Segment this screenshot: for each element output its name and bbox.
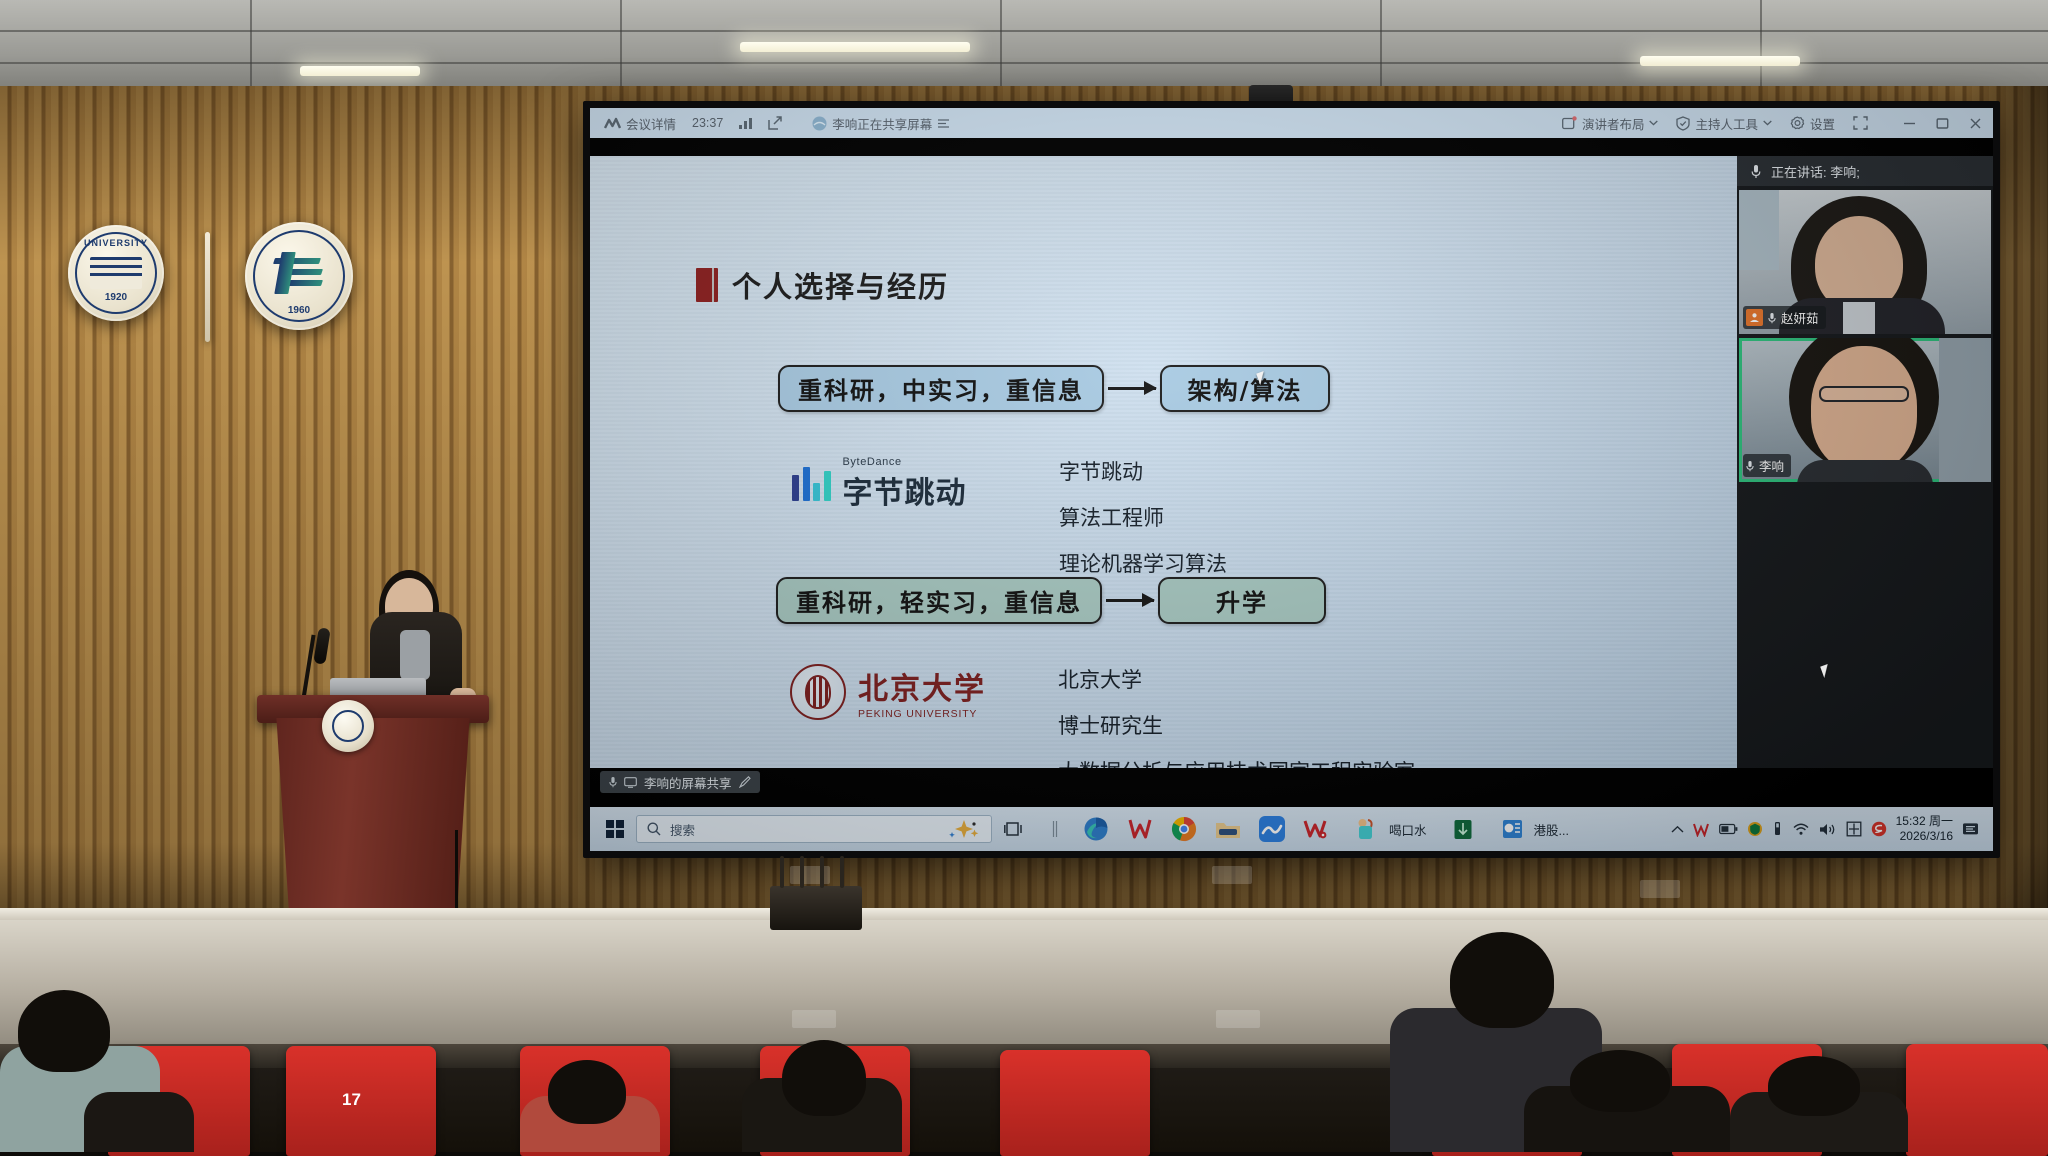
lark-logo-icon (604, 117, 621, 129)
school-line: 博士研究生 (1058, 710, 1415, 740)
company-line: 字节跳动 (1059, 456, 1227, 486)
speaking-indicator: 正在讲话: 李响; (1737, 156, 1993, 186)
audience-member (84, 1092, 194, 1152)
audience-head (18, 990, 110, 1072)
taskbar-clock[interactable]: 15:32 周一 2026/3/16 (1896, 814, 1953, 844)
meeting-stage: 个人选择与经历 重科研，中实习，重信息 架构/算法 (590, 138, 1993, 821)
host-tools-label: 主持人工具 (1695, 114, 1758, 133)
audience-seat: 17 (286, 1046, 436, 1156)
speaking-indicator-text: 正在讲话: 李响; (1771, 162, 1860, 181)
screen-share-icon (624, 777, 637, 788)
volume-icon[interactable] (1819, 822, 1837, 837)
microphone-icon (609, 776, 617, 788)
news-icon[interactable] (1497, 814, 1527, 844)
speaker-layout-label: 演讲者布局 (1582, 114, 1645, 133)
company-text-column: 字节跳动 算法工程师 理论机器学习算法 (1059, 456, 1227, 578)
meeting-toolbar: 会议详情 23:37 李响正在共享屏幕 (590, 108, 1993, 138)
meeting-timer: 23:37 (692, 116, 723, 130)
ceiling-light (740, 42, 970, 52)
sharing-avatar-icon (812, 116, 827, 131)
emblem-yanshan-university: UNIVERSITY 1920 (68, 225, 164, 321)
flow2-left-box: 重科研，轻实习，重信息 (776, 577, 1102, 624)
podium-university-seal (322, 700, 374, 752)
host-badge-icon (1746, 309, 1763, 326)
ceiling-light (300, 66, 420, 76)
sogou-icon[interactable] (1871, 821, 1887, 837)
flow1-right-box: 架构/算法 (1160, 365, 1330, 412)
taskbar-divider (1040, 814, 1070, 844)
layout-icon (1562, 116, 1577, 130)
meeting-details-label: 会议详情 (626, 114, 676, 133)
shield-icon[interactable] (1747, 821, 1763, 837)
sharing-status: 李响正在共享屏幕 (812, 114, 950, 133)
flow2-right-box: 升学 (1158, 577, 1326, 624)
slide-title: 个人选择与经历 (696, 264, 949, 306)
hk-stock-label: 港股... (1534, 820, 1569, 839)
company-line: 理论机器学习算法 (1059, 548, 1227, 578)
shared-slide: 个人选择与经历 重科研，中实习，重信息 架构/算法 (590, 156, 1737, 768)
screen-share-text: 李响的屏幕共享 (644, 773, 732, 792)
bytedance-cn-label: 字节跳动 (843, 468, 967, 512)
search-placeholder: 搜索 (670, 820, 695, 839)
speaker-layout-button[interactable]: 演讲者布局 (1562, 114, 1659, 133)
stage-equipment (770, 886, 862, 930)
ime-icon[interactable] (1846, 821, 1862, 837)
notification-icon[interactable] (1962, 822, 1979, 837)
pencil-annotate-icon[interactable] (739, 776, 751, 788)
seat-number: 17 (342, 1090, 361, 1110)
video-tile-label: 赵妍茹 (1743, 306, 1826, 329)
flow-row-1: 重科研，中实习，重信息 架构/算法 (778, 365, 1330, 412)
bytedance-logo: ByteDance 字节跳动 (792, 456, 967, 512)
audience-seat (1906, 1044, 2048, 1156)
fullscreen-icon[interactable] (1853, 116, 1868, 130)
audience-head (1570, 1050, 1670, 1112)
projection-screen: 会议详情 23:37 李响正在共享屏幕 (583, 101, 2000, 858)
windows-taskbar: 搜索 (590, 807, 1993, 851)
search-icon (647, 822, 661, 836)
chevron-down-icon (1649, 120, 1658, 126)
microphone-icon (1746, 460, 1754, 472)
usb-icon[interactable] (1772, 821, 1783, 837)
wps-office-icon[interactable] (1125, 814, 1155, 844)
ceiling-light (1640, 56, 1800, 66)
file-explorer-icon[interactable] (1213, 814, 1243, 844)
meeting-details-button[interactable]: 会议详情 (604, 114, 676, 133)
slide-title-text: 个人选择与经历 (732, 264, 949, 306)
emblem-school-of-information: 1960 (245, 222, 353, 330)
school-line: 北京大学 (1058, 664, 1415, 694)
settings-button[interactable]: 设置 (1790, 114, 1835, 133)
chrome-browser-icon[interactable] (1169, 814, 1199, 844)
video-tile-name: 李响 (1759, 456, 1784, 475)
audience-head (1450, 932, 1554, 1028)
audience-head (782, 1040, 866, 1116)
sharing-status-label: 李响正在共享屏幕 (832, 114, 932, 133)
bytedance-bars-icon (792, 467, 831, 501)
pku-en-label: PEKING UNIVERSITY (858, 708, 986, 720)
video-tile-participant[interactable]: 赵妍茹 (1739, 190, 1991, 334)
bytedance-latin-label: ByteDance (843, 456, 967, 468)
school-line: 大数据分析与应用技术国家工程实验室 (1058, 756, 1415, 768)
edge-browser-icon[interactable] (1081, 814, 1111, 844)
pku-cn-label: 北京大学 (858, 664, 986, 708)
microphone-icon (1768, 312, 1776, 324)
cup-icon[interactable] (1352, 814, 1382, 844)
presenter-shirt (400, 630, 430, 680)
battery-icon[interactable] (1719, 823, 1738, 835)
lecture-hall-scene: UNIVERSITY 1920 1960 会议详情 23:37 (0, 0, 2048, 1152)
settings-label: 设置 (1810, 114, 1835, 133)
wps-tray-icon[interactable] (1693, 822, 1710, 837)
shield-icon (1676, 116, 1690, 131)
audience-head (548, 1060, 626, 1124)
task-view-icon[interactable] (999, 814, 1029, 844)
flow1-arrow (1108, 387, 1156, 390)
drink-water-label: 喝口水 (1389, 820, 1427, 839)
feishu-icon[interactable] (1257, 814, 1287, 844)
flow1-left-box: 重科研，中实习，重信息 (778, 365, 1104, 412)
share-out-icon[interactable] (768, 116, 782, 130)
wifi-icon[interactable] (1792, 822, 1810, 836)
company-line: 算法工程师 (1059, 502, 1227, 532)
chevron-up-icon[interactable] (1671, 825, 1684, 834)
clock-date: 2026/3/16 (1896, 829, 1953, 844)
chevron-down-icon (1763, 120, 1772, 126)
windows-start-icon[interactable] (606, 820, 624, 838)
video-tile-name: 赵妍茹 (1781, 308, 1819, 327)
system-tray: 15:32 周一 2026/3/16 (1671, 814, 1987, 844)
ceiling (0, 0, 2048, 92)
search-input[interactable]: 搜索 (636, 815, 992, 843)
minimize-icon[interactable] (1902, 117, 1917, 129)
pku-seal-icon (790, 664, 846, 720)
wps-pdf-icon[interactable] (1301, 814, 1331, 844)
peking-university-logo: 北京大学 PEKING UNIVERSITY (790, 664, 986, 720)
slide-title-marker-icon (696, 268, 718, 302)
microphone-icon (1751, 164, 1761, 179)
close-icon[interactable] (1968, 117, 1983, 130)
host-tools-button[interactable]: 主持人工具 (1676, 114, 1772, 133)
stage-front (0, 920, 2048, 1052)
copilot-sparkle-icon[interactable] (947, 819, 981, 839)
flow-row-2: 重科研，轻实习，重信息 升学 (776, 577, 1326, 624)
audience-seat (1000, 1050, 1150, 1156)
video-tile-label: 李响 (1743, 454, 1791, 477)
audience-head (1768, 1056, 1860, 1116)
screen-share-tag: 李响的屏幕共享 (600, 771, 760, 793)
green-box-icon[interactable] (1448, 814, 1478, 844)
school-text-column: 北京大学 博士研究生 大数据分析与应用技术国家工程实验室 (1058, 664, 1415, 768)
clock-time: 15:32 周一 (1896, 814, 1953, 829)
gear-icon (1790, 116, 1805, 131)
maximize-icon[interactable] (1935, 117, 1950, 130)
flow2-arrow (1106, 599, 1154, 602)
more-menu-icon[interactable] (937, 118, 950, 129)
signal-bars-icon[interactable] (739, 117, 752, 129)
video-tile-participant[interactable]: 李响 (1739, 338, 1991, 482)
